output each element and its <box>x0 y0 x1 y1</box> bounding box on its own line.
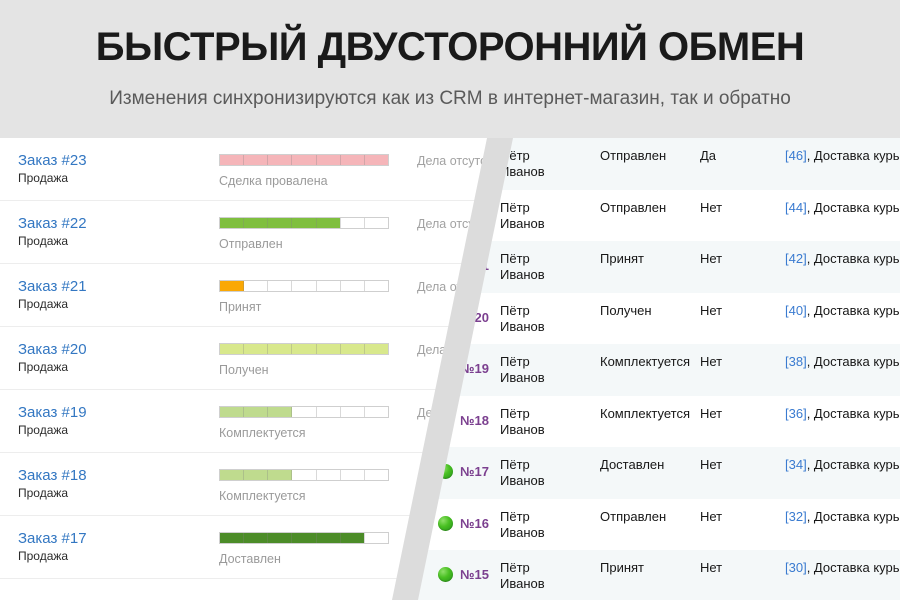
progress-segment <box>317 533 341 543</box>
progress-segment <box>292 218 316 228</box>
progress-segment <box>268 407 292 417</box>
crm-order-delivery: [42], Доставка курьером, В обработки [DN… <box>785 251 900 267</box>
crm-order-paid: Нет <box>700 200 722 215</box>
progress-segment <box>292 470 316 480</box>
crm-table-row[interactable]: №16Пётр ИвановОтправленНет[32], Доставка… <box>415 499 900 551</box>
crm-order-number[interactable]: №17 <box>460 464 489 479</box>
progress-segment <box>317 281 341 291</box>
progress-segment <box>317 344 341 354</box>
progress-segment <box>317 407 341 417</box>
shop-order-link[interactable]: Заказ #17 <box>18 530 87 547</box>
crm-delivery-code: [40] <box>785 303 807 318</box>
crm-table-row[interactable]: №15Пётр ИвановПринятНет[30], Доставка ку… <box>415 550 900 600</box>
progress-segment <box>220 155 244 165</box>
crm-order-paid: Нет <box>700 406 722 421</box>
shop-order-progress <box>219 406 389 418</box>
progress-segment <box>341 344 365 354</box>
screenshot-root: Заказ #23ПродажаСделка проваленаДела отс… <box>0 0 900 600</box>
shop-order-row[interactable]: Заказ #21ПродажаПринятДела отсутствуют <box>0 264 520 327</box>
crm-order-state: Принят <box>600 560 644 575</box>
progress-segment <box>244 470 268 480</box>
progress-segment <box>292 155 316 165</box>
shop-order-row[interactable]: Заказ #22ПродажаОтправленДела отсутствую… <box>0 201 520 264</box>
crm-table-row[interactable]: №20Пётр ИвановПолученНет[40], Доставка к… <box>415 293 900 345</box>
crm-order-delivery: [34], Доставка курьером, В обработки [DN… <box>785 457 900 473</box>
crm-order-delivery: [36], Доставка курьером, В обработки [DN… <box>785 406 900 422</box>
shop-order-link[interactable]: Заказ #22 <box>18 215 87 232</box>
shop-order-status: Получен <box>219 363 269 377</box>
shop-order-status: Сделка провалена <box>219 174 328 188</box>
shop-order-link[interactable]: Заказ #20 <box>18 341 87 358</box>
crm-manager-name: Пётр Иванов <box>500 457 545 489</box>
shop-order-progress <box>219 532 389 544</box>
progress-segment <box>220 533 244 543</box>
shop-order-type: Продажа <box>18 171 68 185</box>
crm-delivery-code: [38] <box>785 354 807 369</box>
shop-order-link[interactable]: Заказ #21 <box>18 278 87 295</box>
progress-segment <box>268 218 292 228</box>
progress-segment <box>365 533 388 543</box>
progress-segment <box>244 281 268 291</box>
progress-segment <box>292 533 316 543</box>
progress-segment <box>341 281 365 291</box>
crm-order-state: Принят <box>600 251 644 266</box>
shop-order-progress <box>219 280 389 292</box>
crm-order-delivery: [32], Доставка курьером, В обработки [DN… <box>785 509 900 525</box>
progress-segment <box>220 407 244 417</box>
progress-segment <box>244 155 268 165</box>
crm-order-state: Комплектуется <box>600 406 690 421</box>
shop-order-row[interactable]: Заказ #20ПродажаПолученДела отсутствуют <box>0 327 520 390</box>
crm-delivery-code: [32] <box>785 509 807 524</box>
progress-segment <box>244 344 268 354</box>
crm-order-state: Комплектуется <box>600 354 690 369</box>
crm-table-row[interactable]: №19Пётр ИвановКомплектуетсяНет[38], Дост… <box>415 344 900 396</box>
crm-order-delivery: [38], Доставка курьером, В обработки [DN… <box>785 354 900 370</box>
shop-order-progress <box>219 469 389 481</box>
progress-segment <box>244 218 268 228</box>
page-subtitle: Изменения синхронизируются как из CRM в … <box>0 88 900 110</box>
status-dot-icon <box>438 464 453 479</box>
crm-order-paid: Нет <box>700 560 722 575</box>
crm-delivery-code: [34] <box>785 457 807 472</box>
progress-segment <box>268 155 292 165</box>
progress-segment <box>365 407 388 417</box>
crm-manager-name: Пётр Иванов <box>500 406 545 438</box>
shop-order-progress <box>219 343 389 355</box>
progress-segment <box>317 155 341 165</box>
status-dot-icon <box>438 516 453 531</box>
crm-order-state: Доставлен <box>600 457 664 472</box>
crm-order-number[interactable]: №15 <box>460 567 489 582</box>
crm-table-row[interactable]: №18Пётр ИвановКомплектуетсяНет[36], Дост… <box>415 396 900 448</box>
progress-segment <box>268 281 292 291</box>
progress-segment <box>244 533 268 543</box>
shop-order-type: Продажа <box>18 360 68 374</box>
crm-order-state: Отправлен <box>600 200 666 215</box>
crm-delivery-code: [46] <box>785 148 807 163</box>
crm-order-number[interactable]: №18 <box>460 413 489 428</box>
progress-segment <box>220 281 244 291</box>
page-title: БЫСТРЫЙ ДВУСТОРОННИЙ ОБМЕН <box>0 26 900 68</box>
progress-segment <box>292 344 316 354</box>
shop-order-row[interactable]: Заказ #23ПродажаСделка проваленаДела отс… <box>0 138 520 201</box>
progress-segment <box>365 470 388 480</box>
crm-order-number[interactable]: №19 <box>460 361 489 376</box>
shop-order-type: Продажа <box>18 423 68 437</box>
shop-order-link[interactable]: Заказ #19 <box>18 404 87 421</box>
progress-segment <box>317 470 341 480</box>
progress-segment <box>341 533 365 543</box>
progress-segment <box>341 470 365 480</box>
progress-segment <box>268 470 292 480</box>
shop-order-status: Принят <box>219 300 261 314</box>
progress-segment <box>365 344 388 354</box>
crm-order-state: Отправлен <box>600 148 666 163</box>
crm-manager-name: Пётр Иванов <box>500 303 545 335</box>
crm-table-row[interactable]: №22Пётр ИвановОтправленНет[44], Доставка… <box>415 190 900 242</box>
header-band: БЫСТРЫЙ ДВУСТОРОННИЙ ОБМЕН Изменения син… <box>0 0 900 138</box>
shop-order-link[interactable]: Заказ #23 <box>18 152 87 169</box>
progress-segment <box>365 281 388 291</box>
crm-table-row[interactable]: №17Пётр ИвановДоставленНет[34], Доставка… <box>415 447 900 499</box>
crm-delivery-code: [30] <box>785 560 807 575</box>
progress-segment <box>244 407 268 417</box>
shop-order-progress <box>219 154 389 166</box>
crm-order-paid: Нет <box>700 303 722 318</box>
shop-order-row[interactable]: Заказ #19ПродажаКомплектуетсяДела отсутс… <box>0 390 520 453</box>
crm-delivery-code: [42] <box>785 251 807 266</box>
progress-segment <box>268 344 292 354</box>
progress-segment <box>220 344 244 354</box>
progress-segment <box>341 155 365 165</box>
crm-panel: №23Пётр ИвановОтправленДа[46], Доставка … <box>415 138 900 600</box>
progress-segment <box>268 533 292 543</box>
shop-order-progress <box>219 217 389 229</box>
shop-order-status: Доставлен <box>219 552 281 566</box>
progress-segment <box>292 281 316 291</box>
crm-order-state: Получен <box>600 303 652 318</box>
crm-order-paid: Да <box>700 148 716 163</box>
shop-order-type: Продажа <box>18 549 68 563</box>
shop-order-type: Продажа <box>18 486 68 500</box>
crm-manager-name: Пётр Иванов <box>500 200 545 232</box>
progress-segment <box>365 218 388 228</box>
progress-segment <box>341 218 365 228</box>
crm-order-paid: Нет <box>700 509 722 524</box>
progress-segment <box>341 407 365 417</box>
crm-order-delivery: [30], Доставка курьером, В обработки [DN… <box>785 560 900 576</box>
crm-order-state: Отправлен <box>600 509 666 524</box>
crm-delivery-code: [44] <box>785 200 807 215</box>
shop-order-status: Отправлен <box>219 237 283 251</box>
progress-segment <box>220 470 244 480</box>
progress-segment <box>317 218 341 228</box>
crm-order-delivery: [40], Доставка курьером, В обработки [DN… <box>785 303 900 319</box>
progress-segment <box>365 155 388 165</box>
shop-order-type: Продажа <box>18 297 68 311</box>
crm-order-paid: Нет <box>700 251 722 266</box>
progress-segment <box>292 407 316 417</box>
crm-order-delivery: [44], Доставка курьером, В обработки [DN… <box>785 200 900 216</box>
crm-delivery-code: [36] <box>785 406 807 421</box>
shop-order-status: Комплектуется <box>219 489 306 503</box>
crm-manager-name: Пётр Иванов <box>500 251 545 283</box>
shop-order-status: Комплектуется <box>219 426 306 440</box>
shop-order-link[interactable]: Заказ #18 <box>18 467 87 484</box>
crm-manager-name: Пётр Иванов <box>500 509 545 541</box>
crm-manager-name: Пётр Иванов <box>500 560 545 592</box>
progress-segment <box>220 218 244 228</box>
shop-order-type: Продажа <box>18 234 68 248</box>
crm-manager-name: Пётр Иванов <box>500 148 545 180</box>
crm-manager-name: Пётр Иванов <box>500 354 545 386</box>
crm-order-paid: Нет <box>700 354 722 369</box>
crm-table-row[interactable]: №21Пётр ИвановПринятНет[42], Доставка ку… <box>415 241 900 293</box>
status-dot-icon <box>438 567 453 582</box>
crm-order-paid: Нет <box>700 457 722 472</box>
crm-order-delivery: [46], Доставка курьером, В обработки [DN… <box>785 148 900 164</box>
crm-order-number[interactable]: №16 <box>460 516 489 531</box>
